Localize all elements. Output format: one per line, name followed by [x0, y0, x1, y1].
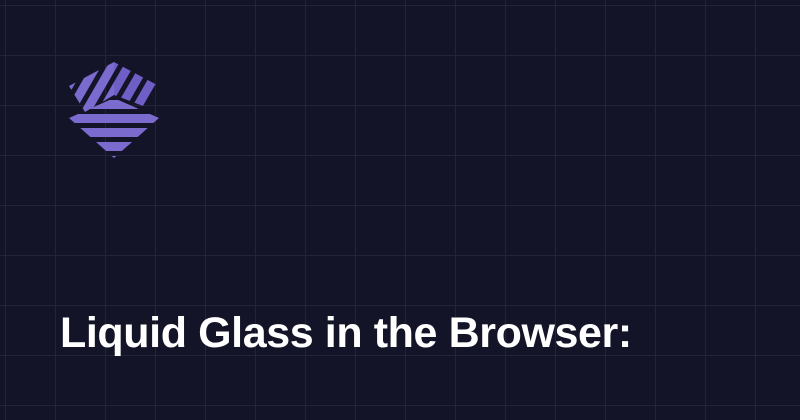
og-card: Liquid Glass in the Browser: Refraction …	[0, 0, 800, 420]
page-title-line-1: Liquid Glass in the Browser:	[60, 306, 760, 361]
hexagon-logo-icon	[64, 60, 164, 160]
page-title: Liquid Glass in the Browser: Refraction …	[60, 196, 760, 420]
brand-logo	[64, 60, 164, 160]
logo-facet-bottom	[64, 100, 164, 160]
